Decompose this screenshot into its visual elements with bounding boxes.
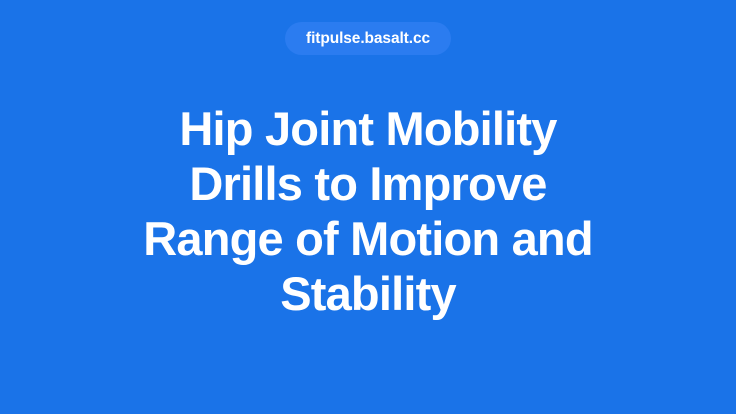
headline-container: Hip Joint Mobility Drills to Improve Ran… (130, 101, 606, 321)
page-title: Hip Joint Mobility Drills to Improve Ran… (130, 101, 606, 321)
domain-badge: fitpulse.basalt.cc (285, 22, 451, 55)
social-card-canvas: fitpulse.basalt.cc Hip Joint Mobility Dr… (0, 0, 736, 414)
domain-badge-label: fitpulse.basalt.cc (306, 31, 430, 47)
